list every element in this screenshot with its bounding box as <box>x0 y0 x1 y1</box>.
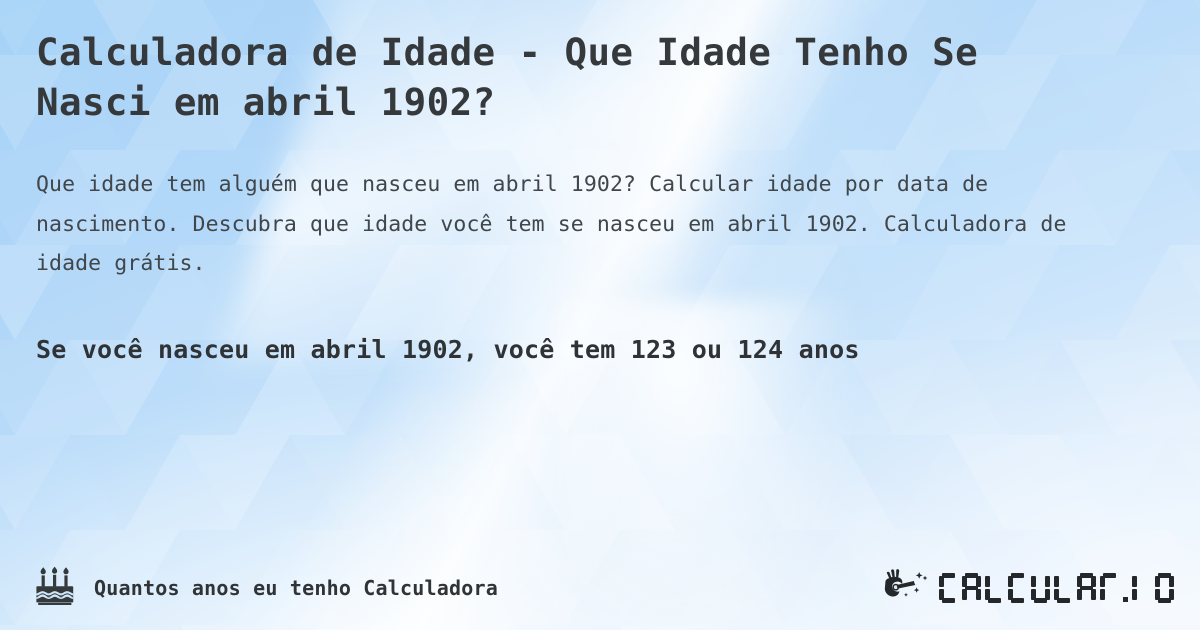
footer-site-label: Quantos anos eu tenho Calculadora <box>94 576 498 600</box>
description-paragraph: Que idade tem alguém que nasceu em abril… <box>36 165 1141 284</box>
brand-wordmark <box>939 573 1174 603</box>
brand-glyph-c <box>1008 573 1027 603</box>
card-content: Calculadora de Idade - Que Idade Tenho S… <box>0 0 1200 372</box>
brand-glyph-dot <box>1123 597 1128 602</box>
card-footer: Quantos anos eu tenho Calculadora <box>0 546 1200 630</box>
brand-glyph-t <box>1100 573 1119 603</box>
brand-glyph-l <box>985 573 1004 603</box>
brand-logo[interactable] <box>882 566 1174 610</box>
age-answer-text: Se você nasceu em abril 1902, você tem 1… <box>36 328 1141 373</box>
brand-glyph-a <box>1077 573 1096 603</box>
page-title: Calculadora de Idade - Que Idade Tenho S… <box>36 28 1036 127</box>
birthday-cake-icon <box>34 566 76 610</box>
brand-glyph-l <box>1054 573 1073 603</box>
social-share-card: Calculadora de Idade - Que Idade Tenho S… <box>0 0 1200 630</box>
brand-glyph-i <box>1132 573 1151 603</box>
brand-glyph-u <box>1031 573 1050 603</box>
brand-glyph-a <box>962 573 981 603</box>
footer-site-identity[interactable]: Quantos anos eu tenho Calculadora <box>34 566 498 610</box>
magic-wand-hand-icon <box>882 566 930 610</box>
brand-glyph-c <box>939 573 958 603</box>
brand-glyph-o <box>1155 573 1174 603</box>
